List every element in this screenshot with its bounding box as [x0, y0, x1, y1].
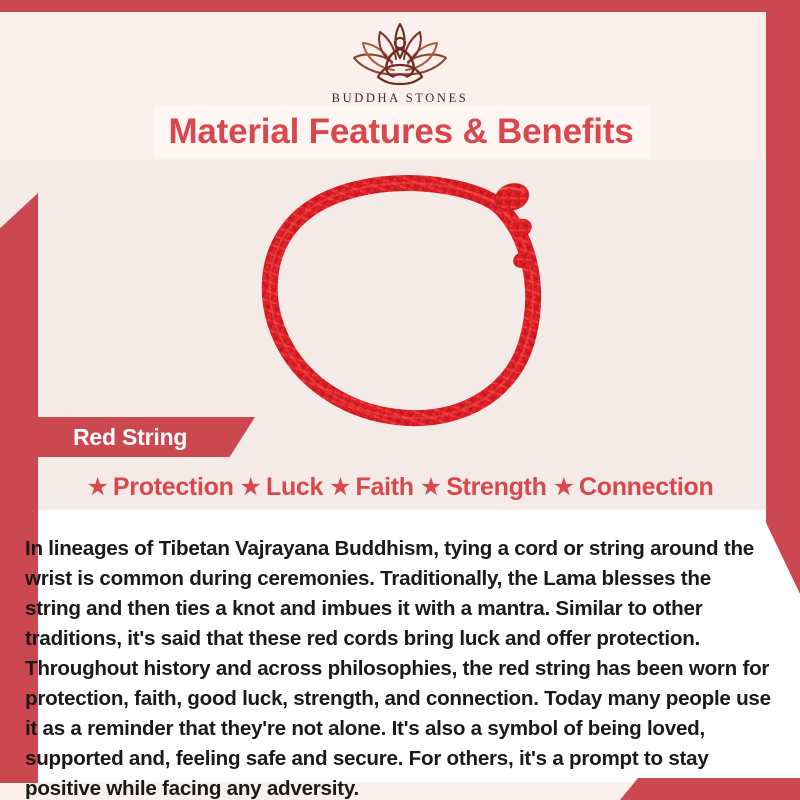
- feature-item-luck: ★ Luck: [240, 473, 324, 502]
- star-icon: ★: [87, 475, 109, 500]
- feature-item-strength: ★ Strength: [420, 473, 547, 502]
- product-image-red-string-bracelet: [196, 168, 606, 433]
- feature-label-protection: Protection: [113, 473, 234, 502]
- feature-item-protection: ★ Protection: [87, 473, 234, 502]
- feature-item-connection: ★ Connection: [553, 473, 714, 502]
- feature-item-faith: ★ Faith: [329, 473, 414, 502]
- title-banner: Material Features & Benefits: [153, 105, 649, 159]
- bracelet-knot: [492, 179, 535, 270]
- star-icon: ★: [553, 475, 575, 500]
- material-features-poster: BUDDHA STONES Material Features & Benefi…: [0, 0, 800, 800]
- material-label: Red String: [73, 424, 187, 451]
- feature-label-strength: Strength: [446, 473, 546, 502]
- star-icon: ★: [240, 475, 262, 500]
- star-icon: ★: [329, 475, 351, 500]
- feature-label-connection: Connection: [579, 473, 714, 502]
- feature-list: ★ Protection ★ Luck ★ Faith ★ Strength ★…: [24, 467, 776, 507]
- star-icon: ★: [420, 475, 442, 500]
- material-label-banner: Red String: [24, 417, 255, 457]
- lotus-meditation-icon: [334, 14, 466, 88]
- description-paragraph: In lineages of Tibetan Vajrayana Buddhis…: [25, 534, 771, 800]
- brand-name: BUDDHA STONES: [332, 91, 469, 106]
- feature-label-faith: Faith: [356, 473, 414, 502]
- feature-label-luck: Luck: [266, 473, 323, 502]
- brand-logo: BUDDHA STONES: [0, 14, 800, 106]
- red-frame-top-bar: [0, 0, 800, 12]
- page-title: Material Features & Benefits: [168, 112, 633, 152]
